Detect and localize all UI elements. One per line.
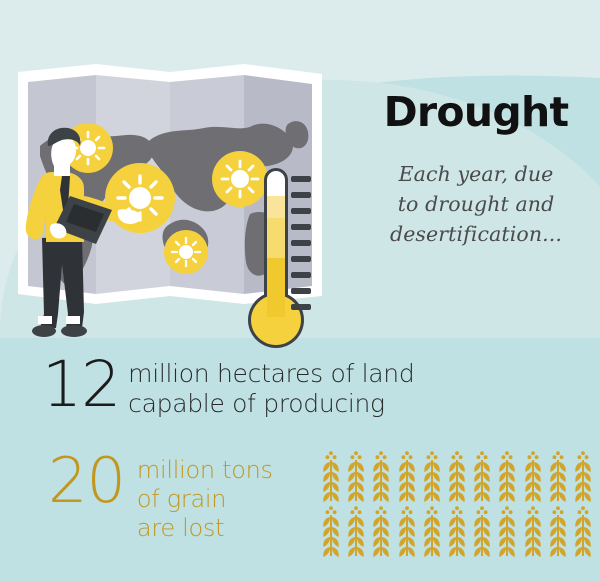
wheat-icon [322, 505, 340, 557]
sun-marker-2 [105, 163, 175, 233]
stat-grain-text: million tons of grain are lost [125, 452, 273, 542]
stat-land-line-1: million hectares of land [128, 359, 414, 389]
wheat-grid [322, 450, 592, 557]
wheat-icon [398, 505, 416, 557]
wheat-icon [322, 450, 340, 502]
wheat-icon [574, 450, 592, 502]
wheat-icon [398, 450, 416, 502]
person-shoe-left [32, 325, 56, 337]
sun-marker-4 [164, 230, 208, 274]
wheat-icon [549, 505, 567, 557]
wheat-icon [372, 450, 390, 502]
page-title: Drought [358, 92, 594, 133]
person-shoe-right [61, 325, 87, 337]
subtitle-line-2: to drought and [398, 192, 555, 216]
drought-illustration [0, 28, 340, 358]
sun-marker-3 [212, 151, 268, 207]
wheat-icon [347, 505, 365, 557]
person-sock-right [66, 316, 80, 324]
stat-land: 12 million hectares of land capable of p… [42, 356, 414, 418]
wheat-row [322, 450, 592, 502]
headline-block: Drought Each year, due to drought and de… [358, 92, 594, 249]
page-subtitle: Each year, due to drought and desertific… [358, 133, 594, 249]
wheat-icon [448, 505, 466, 557]
wheat-icon [372, 505, 390, 557]
thermometer-fill-high [267, 258, 285, 317]
wheat-icon [498, 450, 516, 502]
wheat-icon [574, 505, 592, 557]
wheat-icon [473, 505, 491, 557]
wheat-icon [549, 450, 567, 502]
stat-land-number: 12 [42, 356, 120, 414]
subtitle-line-1: Each year, due [399, 162, 554, 186]
thermometer-ticks [291, 176, 311, 310]
wheat-row [322, 505, 592, 557]
stat-grain-number: 20 [48, 452, 125, 511]
person-sock-left [38, 316, 52, 324]
stat-grain-line-2: of grain [137, 485, 273, 514]
wheat-icon [423, 450, 441, 502]
stat-grain: 20 million tons of grain are lost [48, 452, 273, 542]
stat-grain-line-3: are lost [137, 514, 273, 543]
stat-grain-line-1: million tons [137, 456, 273, 485]
wheat-icon [347, 450, 365, 502]
wheat-icon [524, 450, 542, 502]
wheat-icon [448, 450, 466, 502]
wheat-icon [524, 505, 542, 557]
stat-land-text: million hectares of land capable of prod… [120, 356, 414, 418]
infographic-root: Drought Each year, due to drought and de… [0, 0, 600, 581]
stat-land-line-2: capable of producing [128, 389, 414, 419]
subtitle-line-3: desertification... [390, 222, 562, 246]
wheat-icon [423, 505, 441, 557]
wheat-icon [498, 505, 516, 557]
wheat-icon [473, 450, 491, 502]
